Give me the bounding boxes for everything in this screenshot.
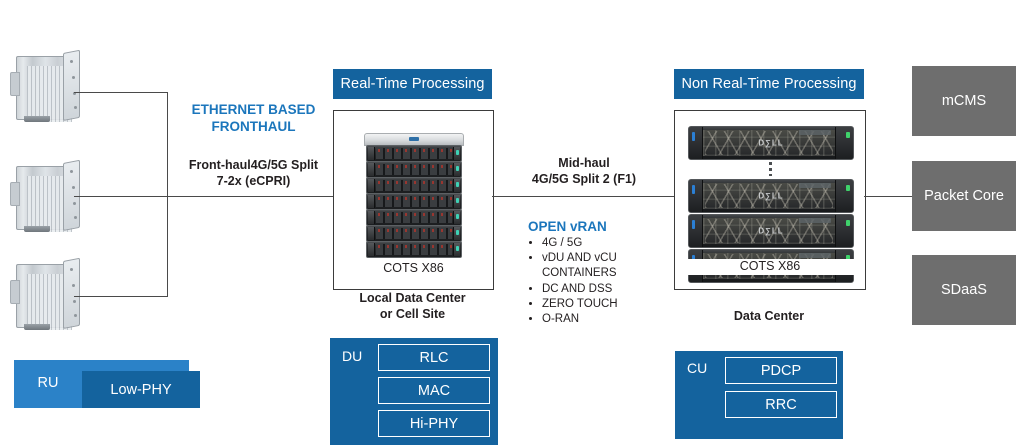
- ru-bolt: [74, 314, 77, 317]
- cu-panel: CU PDCP RRC: [675, 351, 843, 439]
- core-box-mcms[interactable]: mCMS: [912, 66, 1016, 136]
- dell-logo: D∑LL: [758, 227, 783, 236]
- ru-bolt: [70, 60, 73, 63]
- ru-bolt: [70, 170, 73, 173]
- radio-unit-1: [8, 50, 82, 124]
- rack-server: [366, 145, 462, 162]
- local-data-center-caption-line2: or Cell Site: [333, 307, 492, 323]
- fronthaul-heading: ETHERNET BASED FRONTHAUL: [176, 101, 331, 135]
- ru-bolt: [72, 284, 75, 287]
- legend-lowphy-label: Low-PHY: [82, 381, 200, 399]
- fronthaul-bus: [167, 92, 168, 297]
- fronthaul-link-ru3: [74, 296, 168, 297]
- radio-unit-2: [8, 160, 82, 234]
- local-data-center-box: COTS X86: [333, 110, 494, 290]
- ru-bolt: [72, 76, 75, 79]
- local-data-center-caption-line1: Local Data Center: [333, 291, 492, 307]
- ru-chassis: [16, 166, 70, 230]
- cu-layer-rrc[interactable]: RRC: [725, 391, 837, 418]
- ru-bolt: [73, 202, 76, 205]
- dell-rack-server: D∑LL: [688, 214, 854, 248]
- cu-layer-pdcp[interactable]: PDCP: [725, 357, 837, 384]
- du-layer-hiphy[interactable]: Hi-PHY: [378, 410, 490, 437]
- open-vran-bullet: 4G / 5G: [542, 236, 672, 251]
- non-real-time-hardware-label: COTS X86: [675, 259, 865, 275]
- rack-server: [366, 161, 462, 178]
- fronthaul-link-ru1: [74, 92, 168, 93]
- open-vran-bullet: ZERO TOUCH: [542, 297, 672, 312]
- legend-ru-label: RU: [14, 374, 82, 392]
- open-vran-bullet: DC AND DSS: [542, 282, 672, 297]
- rack-server: [366, 241, 462, 258]
- server-ellipsis-icon: [769, 162, 772, 176]
- real-time-hardware-label: COTS X86: [334, 261, 493, 277]
- data-center-caption: Data Center: [674, 309, 864, 325]
- real-time-processing-banner: Real-Time Processing: [333, 69, 492, 99]
- core-box-packet-core[interactable]: Packet Core: [912, 161, 1016, 231]
- core-box-sdaas[interactable]: SDaaS: [912, 255, 1016, 325]
- cu-tag: CU: [687, 360, 707, 376]
- data-center-box: D∑LL D∑LL D∑LL D∑LL COTS X86: [674, 110, 866, 290]
- radio-unit-3: [8, 258, 82, 332]
- rack-server: [366, 177, 462, 194]
- diagram-canvas: ETHERNET BASED FRONTHAUL Front-haul4G/5G…: [0, 0, 1024, 447]
- ru-mount-tab: [10, 72, 20, 96]
- fronthaul-detail-line1: Front-haul4G/5G Split: [176, 158, 331, 174]
- du-tag: DU: [342, 348, 362, 364]
- fronthaul-link-ru2: [74, 196, 168, 197]
- dell-logo: D∑LL: [758, 192, 783, 201]
- ru-connector: [24, 226, 50, 232]
- midhaul-trunk: [492, 196, 674, 197]
- non-real-time-processing-banner: Non Real-Time Processing: [674, 69, 864, 99]
- dell-logo: D∑LL: [758, 139, 783, 148]
- dell-rack-server: D∑LL: [688, 126, 854, 160]
- midhaul-label-line1: Mid-haul: [500, 156, 668, 172]
- ru-mount-tab: [10, 280, 20, 304]
- open-vran-bullet: O-RAN: [542, 312, 672, 327]
- midhaul-label-line2: 4G/5G Split 2 (F1): [500, 172, 668, 188]
- open-vran-bullet: vDU AND vCU CONTAINERS: [542, 251, 672, 281]
- rack-server: [366, 209, 462, 226]
- du-layer-rlc[interactable]: RLC: [378, 344, 490, 371]
- fronthaul-trunk: [167, 196, 333, 197]
- dell-rack-server: D∑LL: [688, 179, 854, 213]
- fronthaul-detail-line2: 7-2x (eCPRI): [176, 174, 331, 190]
- open-vran-bullet-list: 4G / 5G vDU AND vCU CONTAINERS DC AND DS…: [528, 236, 672, 327]
- ru-bolt: [74, 106, 77, 109]
- du-panel: DU RLC MAC Hi-PHY: [330, 338, 498, 445]
- ru-bolt: [72, 186, 75, 189]
- ru-chassis: [16, 264, 70, 328]
- ru-bolt: [70, 268, 73, 271]
- rack-server: [366, 193, 462, 210]
- ru-chassis: [16, 56, 70, 120]
- open-vran-heading: OPEN vRAN: [528, 218, 668, 235]
- backhaul-trunk: [864, 196, 912, 197]
- ru-mount-tab: [10, 182, 20, 206]
- du-layer-mac[interactable]: MAC: [378, 377, 490, 404]
- rack-server: [366, 225, 462, 242]
- ru-bolt: [74, 216, 77, 219]
- ru-bolt: [73, 300, 76, 303]
- ru-connector: [24, 324, 50, 330]
- ru-connector: [24, 116, 50, 122]
